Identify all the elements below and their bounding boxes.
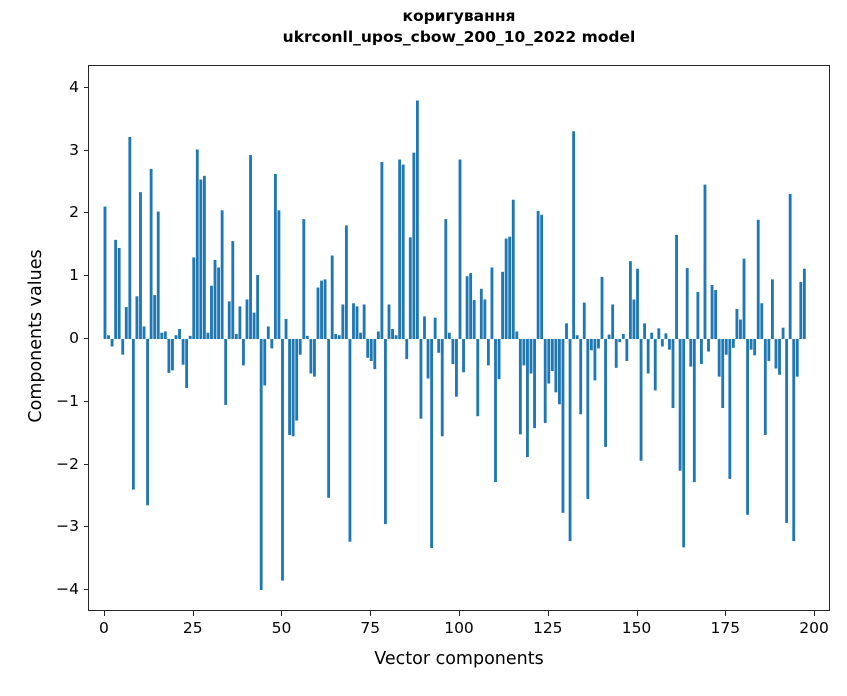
bar	[650, 333, 653, 339]
bar	[501, 272, 504, 339]
bar	[288, 339, 291, 435]
bar	[508, 237, 511, 339]
bar	[409, 237, 412, 339]
bar	[388, 304, 391, 339]
bar	[494, 339, 497, 482]
bar	[647, 339, 650, 374]
bar	[562, 339, 565, 513]
y-tick-label: −1	[19, 392, 79, 410]
bar	[285, 319, 288, 339]
bar	[189, 336, 192, 339]
y-tick-mark	[84, 338, 89, 339]
bar	[451, 339, 454, 364]
y-tick-label: 2	[19, 203, 79, 221]
bar	[246, 299, 249, 339]
bar	[317, 288, 320, 339]
bar	[207, 333, 210, 339]
bar	[302, 219, 305, 339]
bar	[306, 336, 309, 339]
bar	[377, 331, 380, 339]
bar	[352, 303, 355, 339]
bar	[590, 339, 593, 350]
bar	[796, 339, 799, 377]
bar	[462, 339, 465, 372]
bar	[782, 328, 785, 339]
bar	[544, 339, 547, 423]
y-tick-label: −2	[19, 455, 79, 473]
bar	[427, 339, 430, 379]
bar	[572, 131, 575, 339]
x-axis-label: Vector components	[88, 649, 830, 669]
bar	[434, 318, 437, 339]
bar	[359, 333, 362, 339]
bar	[221, 210, 224, 339]
bar	[395, 335, 398, 339]
bar	[739, 320, 742, 339]
x-tick-mark	[104, 611, 105, 616]
x-tick-label: 175	[690, 619, 760, 637]
bar	[498, 339, 501, 379]
bar	[274, 174, 277, 339]
bar	[661, 339, 664, 347]
bar	[391, 329, 394, 339]
y-tick-mark	[84, 464, 89, 465]
y-tick-mark	[84, 87, 89, 88]
bar	[363, 304, 366, 339]
bar	[111, 339, 114, 347]
bar	[540, 215, 543, 339]
bar	[136, 296, 139, 339]
bar	[171, 339, 174, 370]
bar	[799, 282, 802, 339]
bar	[728, 339, 731, 479]
bar	[299, 339, 302, 355]
bar	[324, 279, 327, 339]
bar	[608, 335, 611, 339]
bar	[384, 339, 387, 524]
x-tick-mark	[548, 611, 549, 616]
bar	[420, 339, 423, 419]
bar	[569, 339, 572, 541]
bar	[128, 137, 131, 339]
bar	[767, 339, 770, 361]
x-tick-label: 200	[779, 619, 847, 637]
bar	[633, 299, 636, 339]
chart-title-line-2: ukrconll_upos_cbow_200_10_2022 model	[88, 27, 830, 48]
bar	[423, 316, 426, 339]
y-tick-mark	[84, 212, 89, 213]
bar	[366, 339, 369, 358]
bar	[231, 241, 234, 339]
bar	[512, 200, 515, 339]
bar	[583, 303, 586, 339]
bar	[792, 339, 795, 541]
bar	[480, 289, 483, 339]
y-tick-label: −4	[19, 580, 79, 598]
bar	[675, 235, 678, 339]
bar	[750, 339, 753, 350]
bar	[349, 339, 352, 542]
bar	[292, 339, 295, 436]
bar	[657, 328, 660, 339]
bar	[597, 339, 600, 348]
bar	[167, 339, 170, 373]
bar	[192, 257, 195, 339]
bar	[178, 329, 181, 339]
bar	[380, 162, 383, 339]
x-tick-label: 75	[335, 619, 405, 637]
bar	[718, 339, 721, 377]
y-tick-label: 3	[19, 141, 79, 159]
bar	[789, 194, 792, 339]
bar	[664, 333, 667, 339]
x-tick-mark	[725, 611, 726, 616]
bar	[459, 160, 462, 339]
bar	[604, 339, 607, 447]
bar	[579, 339, 582, 414]
bar	[689, 339, 692, 367]
x-tick-mark	[637, 611, 638, 616]
bar	[654, 339, 657, 390]
bar	[412, 153, 415, 339]
bar	[157, 212, 160, 339]
matplotlib-figure: коригування ukrconll_upos_cbow_200_10_20…	[0, 0, 847, 696]
bar	[476, 339, 479, 416]
bar	[483, 299, 486, 339]
bar	[672, 339, 675, 408]
bar	[757, 220, 760, 339]
bar	[771, 279, 774, 339]
bar	[686, 268, 689, 339]
y-tick-mark	[84, 150, 89, 151]
y-tick-mark	[84, 401, 89, 402]
bar	[732, 339, 735, 348]
bar	[743, 259, 746, 339]
bar	[778, 339, 781, 375]
bar	[455, 339, 458, 397]
bar	[473, 300, 476, 339]
bar	[132, 339, 135, 490]
x-tick-label: 25	[158, 619, 228, 637]
x-tick-mark	[814, 611, 815, 616]
bar	[203, 176, 206, 339]
x-tick-mark	[370, 611, 371, 616]
x-tick-mark	[193, 611, 194, 616]
bar-series-svg	[89, 66, 829, 610]
bar	[618, 339, 621, 342]
bar	[803, 269, 806, 339]
bar	[714, 290, 717, 339]
y-tick-label: −3	[19, 517, 79, 535]
x-tick-label: 50	[246, 619, 316, 637]
bar	[444, 219, 447, 339]
bar	[725, 339, 728, 355]
bar	[320, 281, 323, 339]
bar	[753, 339, 756, 355]
bar	[327, 339, 330, 498]
y-tick-label: 4	[19, 78, 79, 96]
bar	[331, 256, 334, 339]
chart-title-line-1: коригування	[88, 6, 830, 27]
x-tick-label: 150	[602, 619, 672, 637]
bar	[515, 331, 518, 339]
bar	[104, 207, 107, 339]
bar	[711, 285, 714, 339]
bar	[622, 334, 625, 339]
bar	[554, 339, 557, 392]
bar	[242, 339, 245, 365]
bar	[636, 269, 639, 339]
bar	[313, 339, 316, 377]
bar	[530, 339, 533, 374]
bar	[491, 267, 494, 339]
bar	[217, 267, 220, 339]
bar	[370, 339, 373, 361]
bar	[356, 306, 359, 339]
bar	[238, 306, 241, 339]
bar	[185, 339, 188, 388]
bar	[143, 326, 146, 339]
bar	[160, 333, 163, 339]
bar	[107, 335, 110, 339]
bar	[775, 339, 778, 369]
bar	[196, 149, 199, 339]
bar	[693, 339, 696, 482]
bar	[576, 335, 579, 339]
bar	[402, 165, 405, 339]
y-tick-label: 0	[19, 329, 79, 347]
bar	[700, 339, 703, 364]
bar	[448, 333, 451, 339]
y-tick-mark	[84, 526, 89, 527]
y-tick-mark	[84, 275, 89, 276]
bar	[601, 277, 604, 339]
bar	[150, 169, 153, 339]
bar	[256, 275, 259, 339]
bar	[760, 303, 763, 339]
bar	[785, 339, 788, 523]
bar	[526, 339, 529, 457]
bar	[707, 339, 710, 352]
x-tick-mark	[281, 611, 282, 616]
bar	[270, 339, 273, 348]
bar	[175, 335, 178, 339]
bar	[466, 276, 469, 339]
bar	[611, 304, 614, 339]
bar	[593, 339, 596, 380]
chart-title: коригування ukrconll_upos_cbow_200_10_20…	[88, 6, 830, 48]
bar	[334, 334, 337, 339]
bar	[696, 292, 699, 339]
bar	[118, 248, 121, 339]
bar	[704, 185, 707, 339]
bar	[153, 295, 156, 339]
bar	[679, 339, 682, 471]
plot-axes	[88, 65, 830, 611]
bar	[182, 339, 185, 365]
bar	[721, 339, 724, 408]
bar	[565, 323, 568, 339]
bar	[682, 339, 685, 547]
bar	[522, 339, 525, 365]
bar-plot-area	[89, 66, 829, 610]
bar	[267, 326, 270, 339]
bar	[736, 309, 739, 339]
x-tick-label: 100	[424, 619, 494, 637]
bar	[643, 323, 646, 339]
bar	[558, 339, 561, 404]
bar	[547, 339, 550, 384]
x-tick-mark	[459, 611, 460, 616]
bar	[640, 339, 643, 461]
bar	[469, 273, 472, 339]
bar	[121, 339, 124, 355]
bar	[416, 101, 419, 339]
bar	[487, 339, 490, 365]
bar	[441, 339, 444, 436]
bar	[341, 304, 344, 339]
bar	[345, 225, 348, 339]
bar	[139, 192, 142, 339]
bar	[249, 155, 252, 339]
bar	[437, 339, 440, 353]
bar	[278, 210, 281, 339]
bar	[295, 339, 298, 421]
bar	[199, 180, 202, 339]
bar	[281, 339, 284, 581]
bar	[551, 339, 554, 371]
bar	[533, 339, 536, 428]
bar	[214, 260, 217, 339]
bar	[309, 339, 312, 374]
x-tick-label: 0	[69, 619, 139, 637]
bar	[625, 339, 628, 361]
bar	[114, 240, 117, 339]
bar	[430, 339, 433, 548]
bar	[746, 339, 749, 515]
bar	[373, 339, 376, 369]
y-tick-mark	[84, 589, 89, 590]
bar	[537, 211, 540, 339]
bar	[629, 261, 632, 339]
bar	[405, 339, 408, 359]
x-tick-label: 125	[513, 619, 583, 637]
bar	[586, 339, 589, 499]
bar	[253, 313, 256, 339]
bar	[164, 331, 167, 339]
bar	[263, 339, 266, 385]
bar	[398, 160, 401, 339]
bar	[146, 339, 149, 505]
bar	[228, 301, 231, 339]
bar	[505, 239, 508, 339]
bar	[764, 339, 767, 435]
bar	[338, 335, 341, 339]
bar	[125, 307, 128, 339]
bar	[668, 339, 671, 350]
bar	[224, 339, 227, 405]
bar	[260, 339, 263, 590]
bar	[615, 339, 618, 368]
bar	[519, 339, 522, 434]
bar	[210, 286, 213, 339]
bar	[235, 334, 238, 339]
y-tick-label: 1	[19, 266, 79, 284]
bar-series	[104, 101, 806, 591]
